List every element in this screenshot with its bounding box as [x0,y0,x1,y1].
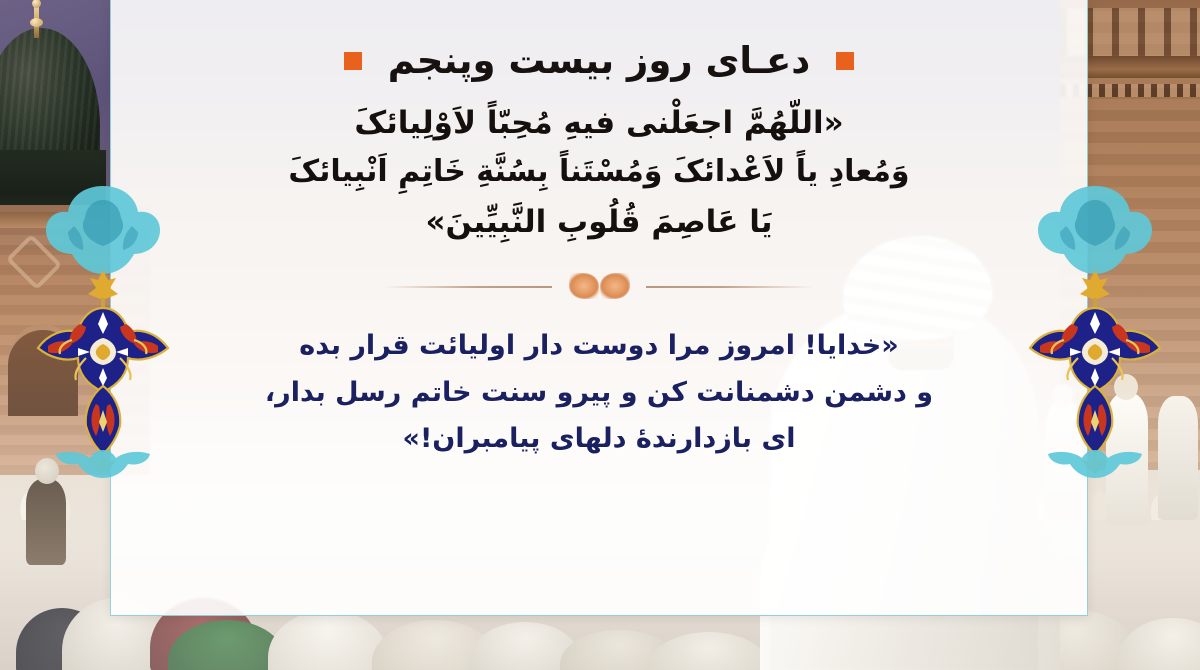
dome-finial-icon [34,4,39,38]
farsi-line-3: ای بازدارندهٔ دلهای پیامبران!» [241,416,957,462]
ornamental-divider [384,273,814,299]
poster-canvas: دعـای روز بیست وپنجم «اللّهُمَّ اجعَلْنی… [0,0,1200,670]
page-title: دعـای روز بیست وپنجم [388,38,810,84]
bullet-square-icon-left [344,52,362,70]
walking-pilgrim-body [26,479,66,565]
seated-worshipper [648,632,770,670]
seated-worshipper [268,610,388,670]
bullet-square-icon-right [836,52,854,70]
green-dome-base [0,150,106,212]
arabic-supplication: «اللّهُمَّ اجعَلْنی فیهِ مُحِبّاً لاَوْل… [241,98,957,247]
arabic-line-1: «اللّهُمَّ اجعَلْنی فیهِ مُحِبّاً لاَوْل… [241,98,957,148]
title-row: دعـای روز بیست وپنجم [241,38,957,84]
arabic-line-3: یَا عَاصِمَ قُلُوبِ النَّبِیِّینَ» [241,197,957,247]
standing-pilgrim-2-head [1114,374,1138,400]
farsi-line-2: و دشمن دشمنانت کن و پیرو سنت خاتم رسل بد… [241,370,957,416]
divider-rule-right [646,286,814,288]
divider-rule-left [384,286,552,288]
divider-knot [554,273,644,299]
farsi-translation: «خدایا! امروز مرا دوست دار اولیائت قرار … [241,323,957,462]
content-panel: دعـای روز بیست وپنجم «اللّهُمَّ اجعَلْنی… [110,0,1088,616]
walking-pilgrim-head [35,458,59,484]
divider-medallion-icon [569,273,599,299]
arabic-line-2: وَمُعادِ یاً لاَعْدائکَ وَمُسْتَناً بِسُ… [241,148,957,197]
farsi-line-1: «خدایا! امروز مرا دوست دار اولیائت قرار … [241,323,957,369]
standing-pilgrim-2 [1106,393,1148,525]
facade-archway [8,330,78,416]
divider-medallion-icon [600,273,630,299]
seated-worshipper [1118,618,1200,670]
standing-pilgrim-3 [1158,396,1198,520]
